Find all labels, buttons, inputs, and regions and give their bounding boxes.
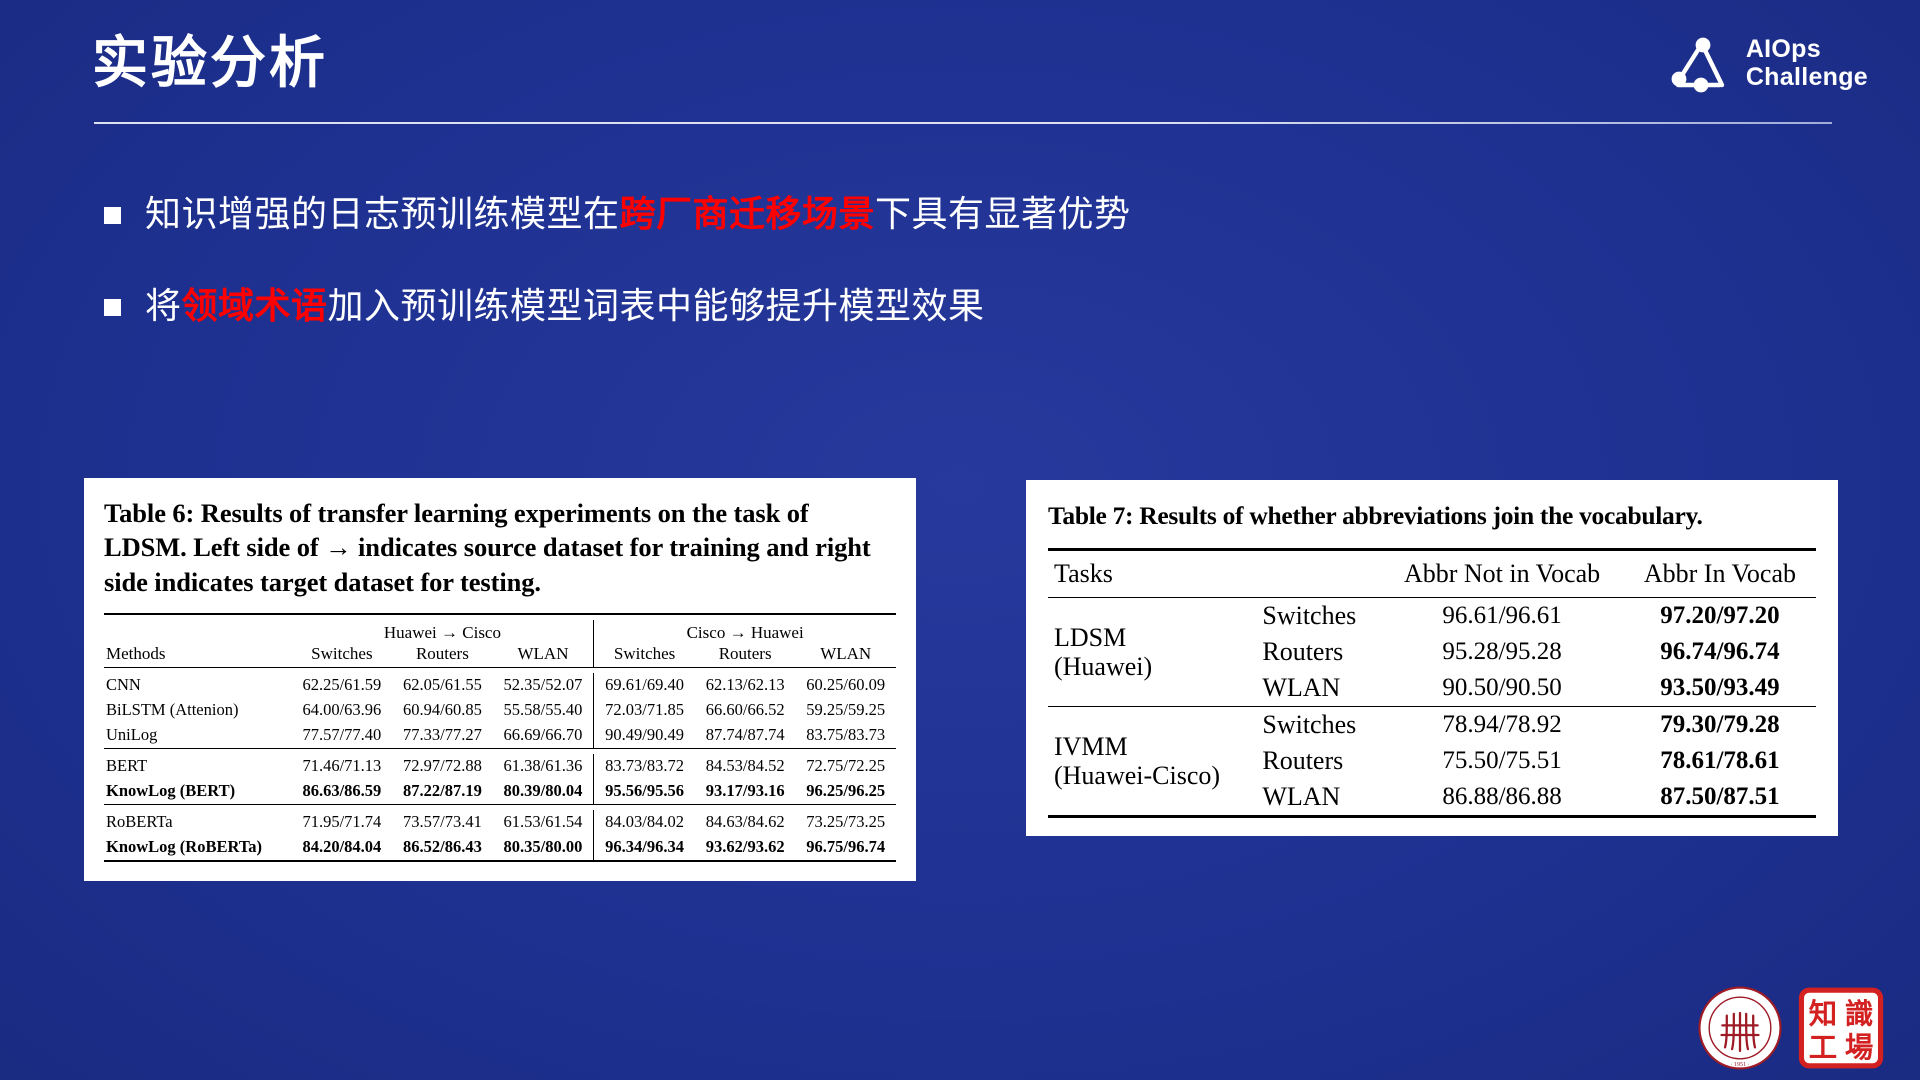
bullet-item-1: 知识增强的日志预训练模型在跨厂商迁移场景下具有显著优势: [104, 190, 1804, 238]
table7-header-tasks: Tasks: [1048, 551, 1380, 598]
table6-method-header: Methods: [104, 620, 292, 667]
table-rule: [1048, 816, 1816, 818]
table6-value-cell: 72.03/71.85: [594, 698, 695, 723]
table6-value-cell: 61.38/61.36: [493, 754, 594, 779]
table6-value-cell: 71.46/71.13: [292, 754, 393, 779]
table6-value-cell: 80.35/80.00: [493, 835, 594, 861]
table-row: BERT71.46/71.1372.97/72.8861.38/61.3683.…: [104, 754, 896, 779]
table7-caption: Table 7: Results of whether abbreviation…: [1048, 500, 1816, 532]
bullet-item-2: 将领域术语加入预训练模型词表中能够提升模型效果: [104, 282, 1804, 330]
table6-value-cell: 73.25/73.25: [795, 810, 896, 835]
table6-value-cell: 87.74/87.74: [695, 723, 796, 749]
table-row: KnowLog (RoBERTa)84.20/84.0486.52/86.438…: [104, 835, 896, 861]
table7-not-in-vocab-cell: 75.50/75.51: [1380, 743, 1624, 779]
aiops-network-logo-icon: [1670, 32, 1732, 94]
table-row: RoBERTa71.95/71.7473.57/73.4161.53/61.54…: [104, 810, 896, 835]
table6-method-cell: BERT: [104, 754, 292, 779]
knowledge-factory-stamp-icon: 知 識 工 場: [1798, 985, 1884, 1071]
table6-group-header-row: MethodsHuawei → CiscoCisco → Huawei: [104, 620, 896, 644]
svg-text:知: 知: [1809, 998, 1837, 1031]
table6-method-cell: RoBERTa: [104, 810, 292, 835]
table6-value-cell: 84.20/84.04: [292, 835, 393, 861]
table7-header-cell: Abbr Not in Vocab: [1380, 551, 1624, 598]
svg-text:場: 場: [1845, 1031, 1873, 1064]
table-row: LDSM(Huawei)Switches96.61/96.6197.20/97.…: [1048, 598, 1816, 634]
table6-value-cell: 60.94/60.85: [392, 698, 493, 723]
table6-value-cell: 84.53/84.52: [695, 754, 796, 779]
table7-task-line-2: (Huawei-Cisco): [1054, 761, 1250, 790]
table7-not-in-vocab-cell: 90.50/90.50: [1380, 670, 1624, 707]
table-row: IVMM(Huawei-Cisco)Switches78.94/78.9279.…: [1048, 707, 1816, 743]
table7-task-line-1: IVMM: [1054, 732, 1250, 761]
table6-value-cell: 60.25/60.09: [795, 673, 896, 698]
brand-text: AIOps Challenge: [1746, 35, 1868, 91]
table-row: BiLSTM (Attenion)64.00/63.9660.94/60.855…: [104, 698, 896, 723]
table6-value-cell: 80.39/80.04: [493, 779, 594, 805]
table7-subset-cell: Routers: [1256, 743, 1380, 779]
brand-line-1: AIOps: [1746, 35, 1821, 63]
table6-value-cell: 83.73/83.72: [594, 754, 695, 779]
table6-value-cell: 86.63/86.59: [292, 779, 393, 805]
donghua-university-seal-icon: · 1951 ·: [1696, 984, 1784, 1072]
table6-value-cell: 77.33/77.27: [392, 723, 493, 749]
table6-value-cell: 86.52/86.43: [392, 835, 493, 861]
table-rule: [104, 861, 896, 867]
svg-text:識: 識: [1845, 998, 1873, 1031]
table6-value-cell: 59.25/59.25: [795, 698, 896, 723]
table7-subset-cell: WLAN: [1256, 670, 1380, 707]
table7-not-in-vocab-cell: 96.61/96.61: [1380, 598, 1624, 634]
table7-subset-cell: Switches: [1256, 598, 1380, 634]
table7-in-vocab-cell: 87.50/87.51: [1624, 779, 1816, 817]
table-row: CNN62.25/61.5962.05/61.5552.35/52.0769.6…: [104, 673, 896, 698]
table6-value-cell: 90.49/90.49: [594, 723, 695, 749]
table6-value-cell: 73.57/73.41: [392, 810, 493, 835]
table7-task-line-2: (Huawei): [1054, 652, 1250, 681]
table6-value-cell: 84.03/84.02: [594, 810, 695, 835]
table6-value-cell: 62.05/61.55: [392, 673, 493, 698]
square-bullet-icon: [104, 207, 121, 224]
table6-value-cell: 72.75/72.25: [795, 754, 896, 779]
table7-not-in-vocab-cell: 78.94/78.92: [1380, 707, 1624, 743]
table6-value-cell: 52.35/52.07: [493, 673, 594, 698]
bullet-1-part-3: 下具有显著优势: [875, 193, 1131, 234]
table7-header-cell: Abbr In Vocab: [1624, 551, 1816, 598]
table6-method-cell: KnowLog (RoBERTa): [104, 835, 292, 861]
table6-value-cell: 93.17/93.16: [695, 779, 796, 805]
table6-method-cell: CNN: [104, 673, 292, 698]
table7-task-line-1: LDSM: [1054, 623, 1250, 652]
table7-not-in-vocab-cell: 86.88/86.88: [1380, 779, 1624, 817]
table6-value-cell: 66.60/66.52: [695, 698, 796, 723]
table6-method-cell: KnowLog (BERT): [104, 779, 292, 805]
table6-value-cell: 87.22/87.19: [392, 779, 493, 805]
page-title: 实验分析: [92, 28, 328, 98]
table6-group-header: Cisco → Huawei: [594, 620, 896, 644]
table7-in-vocab-cell: 97.20/97.20: [1624, 598, 1816, 634]
table-row: UniLog77.57/77.4077.33/77.2766.69/66.709…: [104, 723, 896, 749]
brand-line-2: Challenge: [1746, 63, 1868, 91]
bullet-item-1-text: 知识增强的日志预训练模型在跨厂商迁移场景下具有显著优势: [145, 190, 1131, 238]
table7-in-vocab-cell: 96.74/96.74: [1624, 634, 1816, 670]
bullet-2-part-1: 将: [145, 285, 182, 326]
table6-value-cell: 69.61/69.40: [594, 673, 695, 698]
bullet-1-part-1: 知识增强的日志预训练模型在: [145, 193, 620, 234]
table6-value-cell: 61.53/61.54: [493, 810, 594, 835]
table6-value-cell: 62.13/62.13: [695, 673, 796, 698]
table6-value-cell: 95.56/95.56: [594, 779, 695, 805]
table6-sub-header: Routers: [695, 644, 796, 668]
svg-text:· 1951 ·: · 1951 ·: [1730, 1062, 1750, 1068]
table7: TasksAbbr Not in VocabAbbr In VocabLDSM(…: [1048, 548, 1816, 818]
svg-text:工: 工: [1809, 1031, 1837, 1064]
table7-header-row: TasksAbbr Not in VocabAbbr In Vocab: [1048, 551, 1816, 598]
table7-subset-cell: Routers: [1256, 634, 1380, 670]
table6-method-cell: BiLSTM (Attenion): [104, 698, 292, 723]
table6-value-cell: 71.95/71.74: [292, 810, 393, 835]
table6-value-cell: 66.69/66.70: [493, 723, 594, 749]
bullet-2-highlight: 领域术语: [182, 285, 328, 326]
table6-sub-header: WLAN: [493, 644, 594, 668]
table6-value-cell: 84.63/84.62: [695, 810, 796, 835]
table7-subset-cell: WLAN: [1256, 779, 1380, 817]
table6-value-cell: 77.57/77.40: [292, 723, 393, 749]
bullet-list: 知识增强的日志预训练模型在跨厂商迁移场景下具有显著优势 将领域术语加入预训练模型…: [104, 190, 1804, 373]
bullet-1-highlight: 跨厂商迁移场景: [620, 193, 876, 234]
table7-subset-cell: Switches: [1256, 707, 1380, 743]
table7-in-vocab-cell: 93.50/93.49: [1624, 670, 1816, 707]
table7-in-vocab-cell: 78.61/78.61: [1624, 743, 1816, 779]
table7-not-in-vocab-cell: 95.28/95.28: [1380, 634, 1624, 670]
bullet-item-2-text: 将领域术语加入预训练模型词表中能够提升模型效果: [145, 282, 985, 330]
aiops-challenge-logo: AIOps Challenge: [1670, 32, 1868, 94]
table6-group-header: Huawei → Cisco: [292, 620, 594, 644]
table6-value-cell: 55.58/55.40: [493, 698, 594, 723]
table6-value-cell: 96.34/96.34: [594, 835, 695, 861]
table6-value-cell: 72.97/72.88: [392, 754, 493, 779]
slide-root: 实验分析 AIOps Challenge 知识增强: [0, 0, 1920, 1080]
square-bullet-icon: [104, 299, 121, 316]
table6-sub-header: WLAN: [795, 644, 896, 668]
table6-value-cell: 64.00/63.96: [292, 698, 393, 723]
table6-value-cell: 83.75/83.73: [795, 723, 896, 749]
table6-card: Table 6: Results of transfer learning ex…: [84, 478, 916, 881]
table6: MethodsHuawei → CiscoCisco → HuaweiSwitc…: [104, 613, 896, 867]
title-divider: [94, 122, 1832, 124]
table-row: KnowLog (BERT)86.63/86.5987.22/87.1980.3…: [104, 779, 896, 805]
table6-value-cell: 96.25/96.25: [795, 779, 896, 805]
table6-value-cell: 96.75/96.74: [795, 835, 896, 861]
table6-value-cell: 62.25/61.59: [292, 673, 393, 698]
table6-sub-header: Switches: [292, 644, 393, 668]
footer-logos: · 1951 · 知 識 工 場: [1696, 984, 1884, 1072]
table7-card: Table 7: Results of whether abbreviation…: [1026, 480, 1838, 836]
bullet-2-part-3: 加入预训练模型词表中能够提升模型效果: [328, 285, 985, 326]
table6-caption: Table 6: Results of transfer learning ex…: [104, 496, 896, 599]
table7-task-cell: IVMM(Huawei-Cisco): [1048, 707, 1256, 817]
table7-task-cell: LDSM(Huawei): [1048, 598, 1256, 707]
table6-sub-header: Switches: [594, 644, 695, 668]
table6-sub-header: Routers: [392, 644, 493, 668]
table6-value-cell: 93.62/93.62: [695, 835, 796, 861]
table6-method-cell: UniLog: [104, 723, 292, 749]
table7-in-vocab-cell: 79.30/79.28: [1624, 707, 1816, 743]
